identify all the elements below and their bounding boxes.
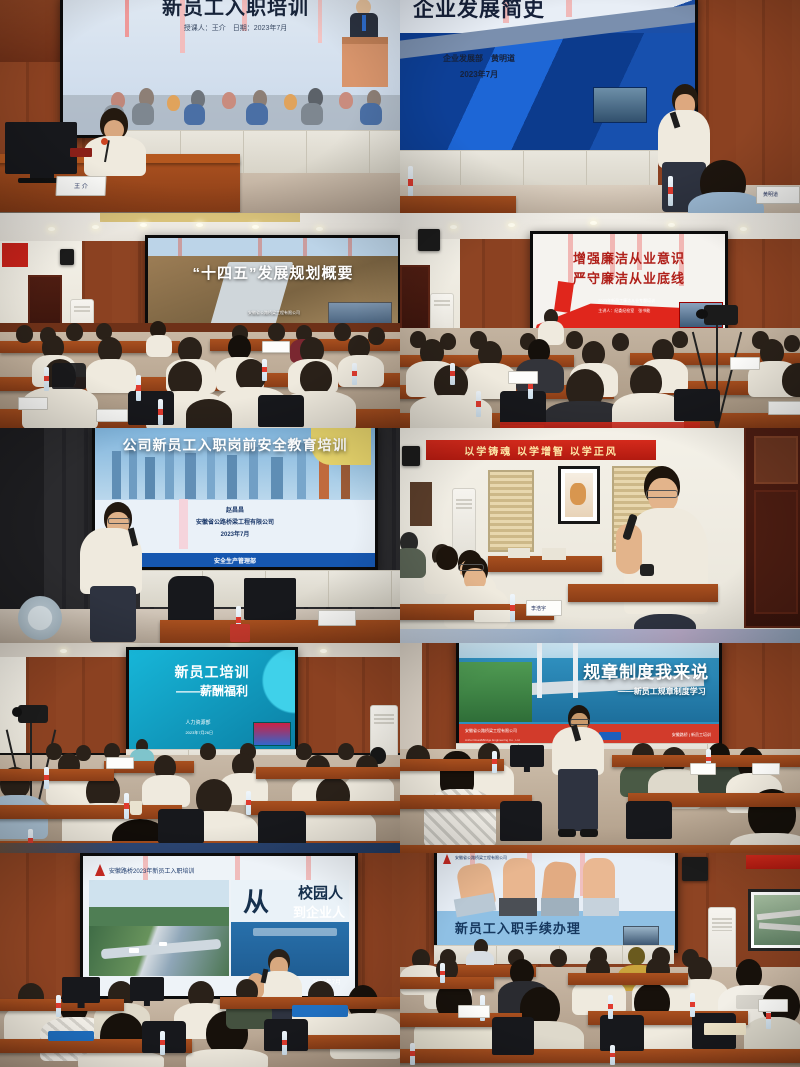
- panel-7-slide-title: 新员工培训: [129, 662, 295, 682]
- photo-collage: 新员工入职培训 授课人：王介 日期：2023年7月: [0, 0, 800, 1067]
- panel-6-scene: 以学铸魂 以学增智 以学正风: [400, 428, 800, 643]
- panel-4-scene: 增强廉洁从业意识 严守廉洁从业底线 2023年新员工廉洁从业专题培训 主讲人：纪…: [400, 213, 800, 428]
- collage-photo-3: “十四五”发展规划概要 安徽省公路桥梁工程有限公司: [0, 213, 400, 428]
- panel-6-speaker-glasses: [646, 490, 678, 498]
- panel-5-slide-company: 安徽省公路桥梁工程有限公司: [95, 517, 375, 526]
- panel-6-door: [744, 428, 800, 628]
- panel-9-slide-title-line1: 校园人: [298, 882, 343, 903]
- panel-8-slide-company-en: Anhui Road&Bridge Engineering Co., Ltd.: [465, 738, 520, 742]
- panel-6-window-blind-1: [488, 470, 534, 552]
- panel-7-led-screen: 新员工培训 ——薪酬福利 人力资源部 2023年7月26日: [126, 647, 298, 755]
- panel-10-led-screen: 安徽省公路桥梁工程有限公司 新员工入职手续办理: [434, 853, 678, 953]
- panel-3-slide-subtitle: 安徽省公路桥梁工程有限公司: [248, 310, 300, 316]
- panel-10-framed-photo: [748, 889, 800, 951]
- panel-5-monitor: [244, 578, 296, 620]
- panel-7-slide-date: 2023年7月26日: [185, 730, 213, 736]
- panel-6-speaker-box: [402, 446, 420, 466]
- panel-6-wall-banner: 以学铸魂 以学增智 以学正风: [426, 440, 656, 460]
- panel-5-desk-fan: [18, 596, 62, 640]
- panel-7-slide-subtitle: ——薪酬福利: [129, 682, 295, 699]
- collage-photo-7: 新员工培训 ——薪酬福利 人力资源部 2023年7月26日: [0, 643, 400, 853]
- panel-9-slide-title-line2: 到企业人: [293, 902, 345, 921]
- collage-photo-1: 新员工入职培训 授课人：王介 日期：2023年7月: [0, 0, 400, 213]
- collage-photo-8: 规章制度我来说 ——新员工规章制度学习 安徽省公路桥梁工程有限公司 Anhui …: [400, 643, 800, 853]
- panel-8-slide-title: 规章制度我来说: [516, 658, 722, 683]
- panel-2-presenter-body: [658, 110, 710, 168]
- panel-9-logo-icon: [95, 864, 105, 876]
- panel-10-slide-title: 新员工入职手续办理: [434, 918, 637, 937]
- panel-1-nameplate: 王 介: [55, 176, 106, 196]
- panel-10-scene: 安徽省公路桥梁工程有限公司 新员工入职手续办理: [400, 853, 800, 1067]
- panel-6-wristwatch: [640, 564, 654, 576]
- panel-10-speaker-box: [682, 857, 708, 881]
- panel-2-slide-title: 企业发展简史: [400, 0, 629, 23]
- panel-8-scene: 规章制度我来说 ——新员工规章制度学习 安徽省公路桥梁工程有限公司 Anhui …: [400, 643, 800, 853]
- panel-5-slide-date: 2023年7月: [95, 529, 375, 538]
- panel-9-slide-title-big: 从: [243, 882, 269, 919]
- panel-9-scene: 安徽路桥2023年新员工入职培训 从 校园人 到企业人 2023年7月: [0, 853, 400, 1067]
- panel-6-notebook: [474, 610, 514, 622]
- panel-2-slide-date: 2023年7月: [400, 69, 629, 80]
- panel-1-nameplate-text: 王 介: [74, 181, 88, 190]
- panel-4-speaker-box: [418, 229, 440, 251]
- panel-7-scene: 新员工培训 ——薪酬福利 人力资源部 2023年7月26日: [0, 643, 400, 853]
- panel-5-slide-presenter: 赵昌昌: [95, 505, 375, 514]
- panel-8-slide-footer: 安徽路桥 | 新员工培训: [672, 732, 711, 738]
- panel-1-scene: 新员工入职培训 授课人：王介 日期：2023年7月: [0, 0, 400, 213]
- panel-10-paper: [704, 1023, 746, 1035]
- panel-6-framed-poster: [558, 466, 600, 524]
- panel-4-slide-title-1: 增强廉洁从业意识: [533, 248, 725, 267]
- collage-photo-10: 安徽省公路桥梁工程有限公司 新员工入职手续办理: [400, 853, 800, 1067]
- panel-5-presenter-glasses: [108, 518, 130, 524]
- panel-8-slide-subtitle: ——新员工规章制度学习: [532, 686, 722, 697]
- panel-6-air-conditioner: [452, 488, 476, 560]
- panel-10-slide-header: 安徽省公路桥梁工程有限公司: [455, 855, 507, 861]
- panel-10-logo-icon: [443, 854, 451, 864]
- panel-2-scene: 企业发展简史 企业发展部 黄明道 2023年7月 黄明道: [400, 0, 800, 213]
- collage-photo-9: 安徽路桥2023年新员工入职培训 从 校园人 到企业人 2023年7月: [0, 853, 400, 1067]
- panel-3-wall-flag: [2, 243, 28, 267]
- panel-7-pip-window: [253, 722, 291, 746]
- panel-7-slide-department: 人力资源部: [185, 719, 210, 726]
- panel-7-paper-cup: [130, 801, 142, 815]
- panel-3-scene: “十四五”发展规划概要 安徽省公路桥梁工程有限公司: [0, 213, 400, 428]
- panel-5-scene: 公司新员工入职岗前安全教育培训 赵昌昌 安徽省公路桥梁工程有限公司 2023年7…: [0, 428, 400, 643]
- panel-2-pip-window: [593, 87, 647, 123]
- panel-9-led-screen: 安徽路桥2023年新员工入职培训 从 校园人 到企业人 2023年7月: [80, 853, 358, 999]
- panel-1-presenter-body: [84, 136, 146, 176]
- panel-5-slide-title: 公司新员工入职岗前安全教育培训: [95, 435, 375, 455]
- panel-3-slide-title: “十四五”发展规划概要: [148, 262, 398, 283]
- panel-6-nameplate-text: 李浩宇: [531, 605, 546, 612]
- panel-9-slide-header: 安徽路桥2023年新员工入职培训: [109, 866, 194, 875]
- panel-2-slide-subtitle: 企业发展部 黄明道: [400, 53, 629, 64]
- panel-8-slide-company-cn: 安徽省公路桥梁工程有限公司: [465, 728, 517, 734]
- panel-4-slide-subtitle: 2023年新员工廉洁从业专题培训: [598, 298, 655, 304]
- panel-2-nameplate-text: 黄明道: [763, 191, 778, 198]
- collage-photo-4: 增强廉洁从业意识 严守廉洁从业底线 2023年新员工廉洁从业专题培训 主讲人：纪…: [400, 213, 800, 428]
- collage-photo-2: 企业发展简史 企业发展部 黄明道 2023年7月 黄明道: [400, 0, 800, 213]
- panel-6-wall-banner-text: 以学铸魂 以学增智 以学正风: [464, 443, 618, 458]
- panel-2-led-screen: 企业发展简史 企业发展部 黄明道 2023年7月: [400, 0, 698, 156]
- collage-photo-5: 公司新员工入职岗前安全教育培训 赵昌昌 安徽省公路桥梁工程有限公司 2023年7…: [0, 428, 400, 643]
- panel-4-slide-presenter: 主讲人：纪委纪检室 张书能: [598, 308, 650, 314]
- panel-1-monitor: [5, 122, 77, 174]
- panel-10-pip-window: [623, 926, 659, 946]
- collage-photo-6: 以学铸魂 以学增智 以学正风: [400, 428, 800, 643]
